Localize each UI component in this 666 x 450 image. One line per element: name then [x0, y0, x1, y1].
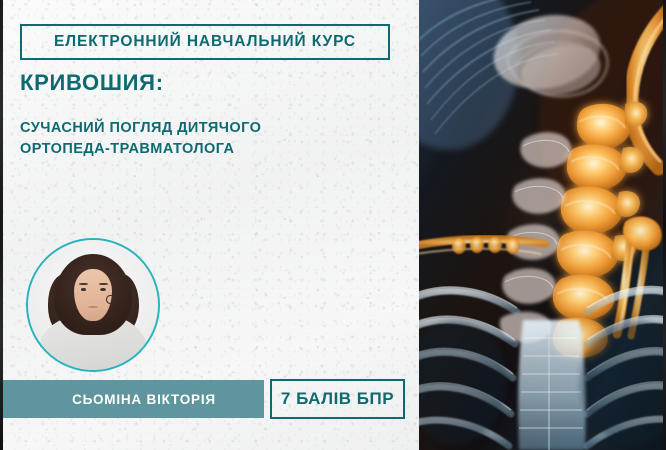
presenter-photo: [28, 240, 158, 370]
page-subtitle: СУЧАСНИЙ ПОГЛЯД ДИТЯЧОГО ОРТОПЕДА-ТРАВМА…: [20, 118, 350, 160]
subtitle-line-2: ОРТОПЕДА-ТРАВМАТОЛОГА: [20, 139, 350, 160]
course-type-label: ЕЛЕКТРОННИЙ НАВЧАЛЬНИЙ КУРС: [54, 33, 356, 51]
course-poster: ЕЛЕКТРОННИЙ НАВЧАЛЬНИЙ КУРС КРИВОШИЯ: СУ…: [0, 0, 666, 450]
credit-points-badge: 7 БАЛІВ БПР: [270, 379, 405, 419]
presenter-name-bar: СЬОМІНА ВІКТОРІЯ: [0, 380, 264, 418]
presenter-name-label: СЬОМІНА ВІКТОРІЯ: [48, 392, 216, 407]
xray-illustration: [419, 0, 666, 450]
course-type-badge: ЕЛЕКТРОННИЙ НАВЧАЛЬНИЙ КУРС: [20, 24, 390, 60]
avatar: [26, 238, 160, 372]
page-title: КРИВОШИЯ:: [20, 72, 164, 94]
credit-points-label: 7 БАЛІВ БПР: [281, 389, 394, 409]
xray-image: [419, 0, 666, 450]
subtitle-line-1: СУЧАСНИЙ ПОГЛЯД ДИТЯЧОГО: [20, 118, 350, 139]
left-border-strip: [0, 0, 3, 450]
